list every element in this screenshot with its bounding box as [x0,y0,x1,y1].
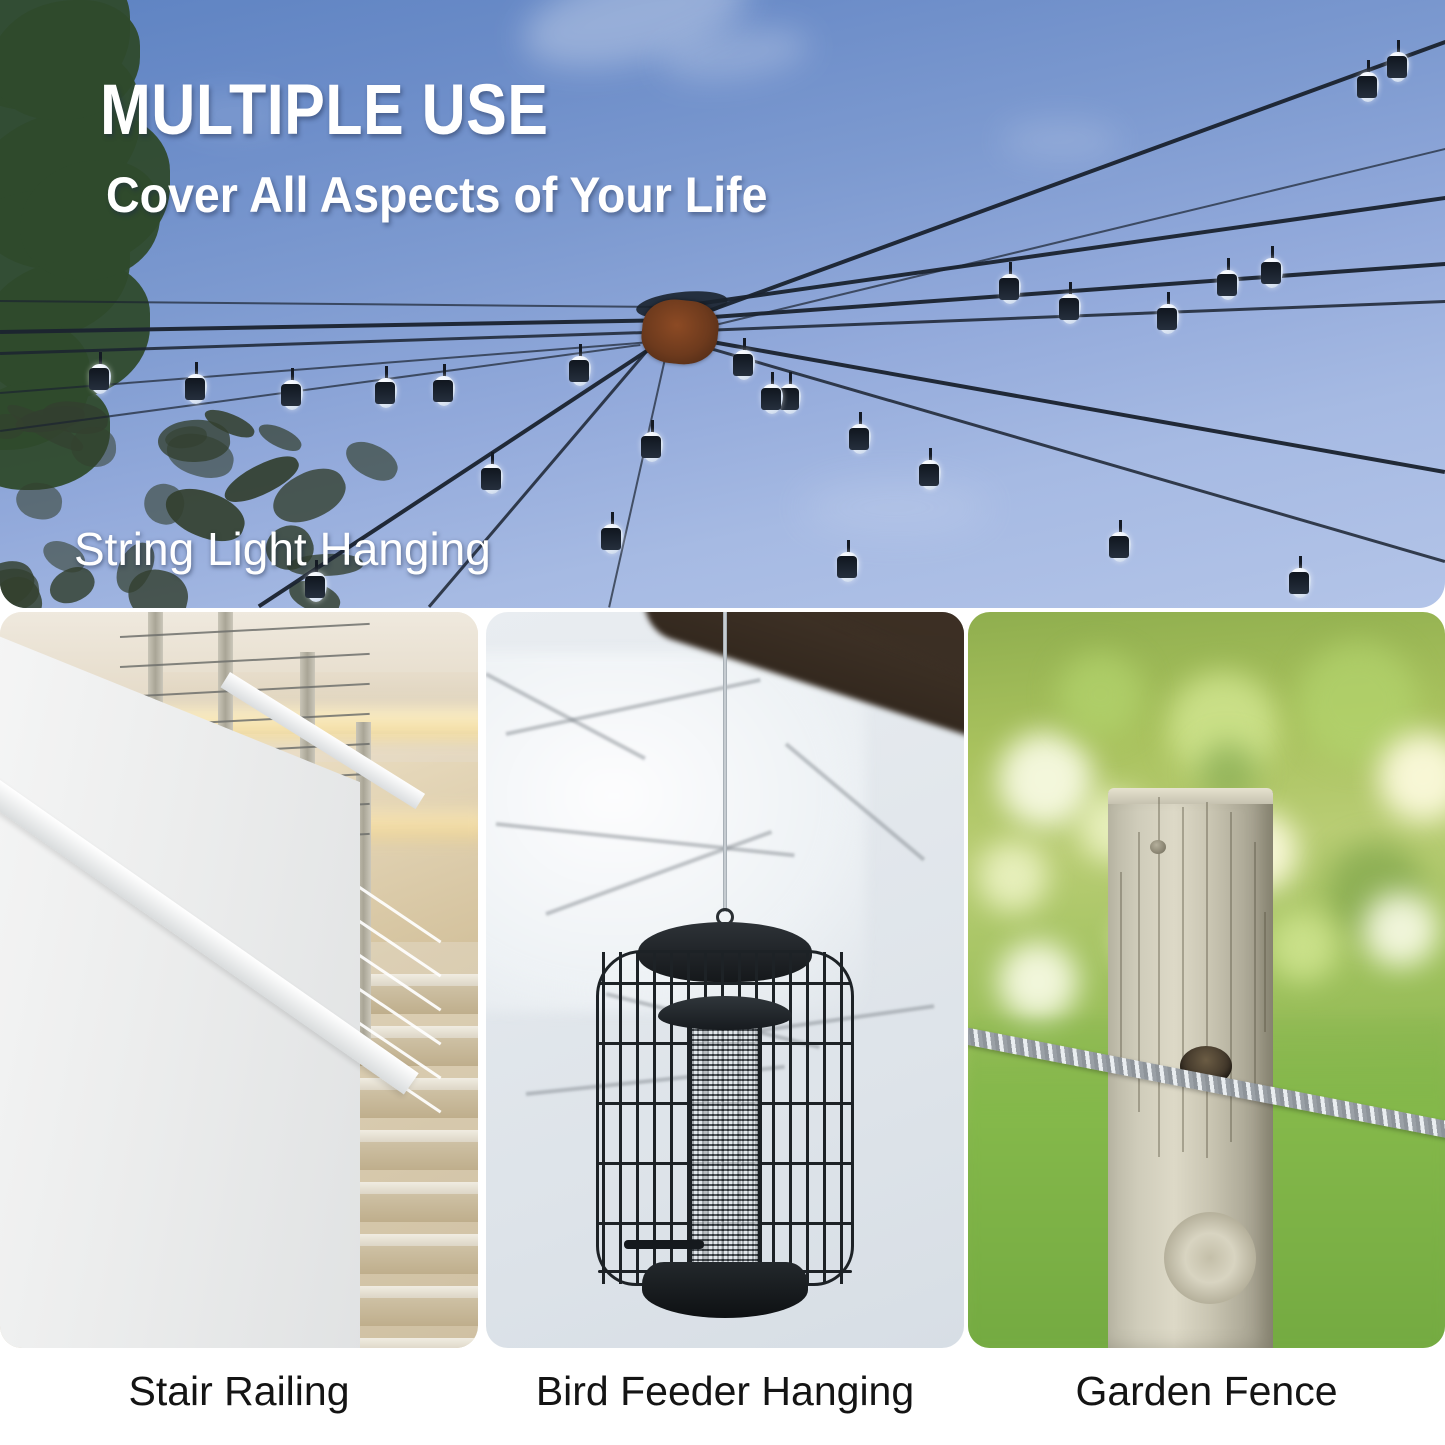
hanging-cable [723,612,727,912]
bokeh-circle [1058,652,1143,737]
cloud-shape [800,480,990,535]
light-bulb [849,412,871,454]
garden-fence-photo [968,612,1445,1348]
light-bulb [185,362,207,404]
bokeh-circle [998,732,1093,827]
feeder-perch [624,1240,704,1249]
panel-stair-railing [0,612,478,1348]
caption-bird-feeder: Bird Feeder Hanging [486,1368,964,1415]
light-cable [700,40,1445,316]
bird-feeder-photo [486,612,964,1348]
use-case-panel-row [0,612,1445,1348]
panel-garden-fence [968,612,1445,1348]
light-bulb [761,372,783,414]
post-top [1108,788,1273,804]
light-bulb [1387,40,1409,82]
grain-line [1264,912,1266,1032]
cage-vertical-bar [789,952,792,1284]
grain-line [1182,807,1184,1152]
light-bulb [1059,282,1081,324]
cage-vertical-bar [670,952,673,1284]
cage-vertical-bar [806,952,809,1284]
panel-captions: Stair Railing Bird Feeder Hanging Garden… [0,1352,1445,1445]
light-bulb [1109,520,1131,562]
feeder-inner-lid [658,996,792,1030]
light-bulb [1289,556,1311,598]
light-bulb [999,262,1021,304]
light-bulb [837,540,859,582]
light-bulb [433,364,455,406]
bokeh-circle [1268,912,1338,982]
wood-knot [1164,1212,1256,1304]
cage-hoop [598,982,852,985]
caption-stair-railing: Stair Railing [0,1368,478,1415]
cage-vertical-bar [840,952,843,1284]
hero-image: MULTIPLE USE Cover All Aspects of Your L… [0,0,1445,608]
panel-bird-feeder [486,612,964,1348]
grain-line [1120,872,1122,1062]
light-bulb [569,344,591,386]
grain-line [1206,802,1208,1158]
light-bulb [281,368,303,410]
screw-head [1150,840,1166,854]
light-bulb [1357,60,1379,102]
light-bulb [1157,292,1179,334]
cage-vertical-bar [602,952,605,1284]
light-bulb [601,512,623,554]
feeder-base [642,1262,808,1318]
bokeh-circle [1363,892,1438,967]
caption-garden-fence: Garden Fence [968,1368,1445,1415]
cloud-shape [1000,120,1120,160]
light-bulb [1261,246,1283,288]
light-bulb [89,352,111,394]
cable-junction-bracket [639,296,721,368]
light-bulb [481,452,503,494]
cage-vertical-bar [636,952,639,1284]
light-bulb [641,420,663,462]
cage-vertical-bar [653,952,656,1284]
stair-railing-photo [0,612,478,1348]
light-bulb [375,366,397,408]
hero-headline: MULTIPLE USE [100,70,548,151]
feeder-mesh-tube [688,1014,762,1266]
light-bulb [1217,258,1239,300]
cage-vertical-bar [619,952,622,1284]
grain-line [1254,842,1256,1092]
caged-bird-feeder [590,922,860,1322]
light-bulb [919,448,941,490]
hero-subheadline: Cover All Aspects of Your Life [106,166,767,224]
light-bulb [733,338,755,380]
bokeh-circle [978,842,1048,912]
bokeh-circle [998,942,1078,1022]
hero-caption: String Light Hanging [74,522,491,576]
cage-vertical-bar [823,952,826,1284]
